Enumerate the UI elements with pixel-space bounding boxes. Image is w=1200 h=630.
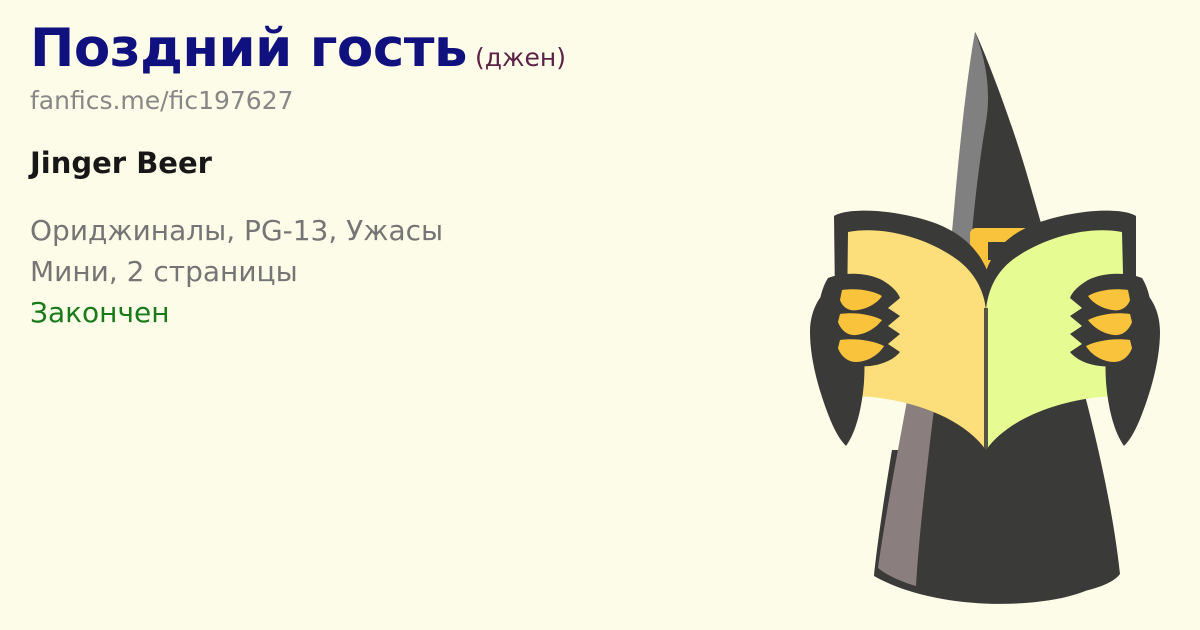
metadata-block: Ориджиналы, PG-13, Ужасы Мини, 2 страниц… bbox=[30, 211, 730, 333]
page-title: Поздний гость(джен) bbox=[30, 22, 730, 75]
title-text: Поздний гость bbox=[30, 18, 467, 79]
source-url[interactable]: fanfics.me/fic197627 bbox=[30, 87, 730, 115]
metadata-line-fandom-rating-genre: Ориджиналы, PG-13, Ужасы bbox=[30, 211, 730, 252]
witch-reading-book-illustration bbox=[770, 10, 1200, 620]
book-spine bbox=[984, 308, 988, 452]
genre-tag: (джен) bbox=[475, 43, 566, 72]
author-name: Jinger Beer bbox=[30, 148, 730, 180]
text-column: Поздний гость(джен) fanfics.me/fic197627… bbox=[30, 22, 730, 333]
metadata-line-size-pages: Мини, 2 страницы bbox=[30, 252, 730, 293]
social-card: Поздний гость(джен) fanfics.me/fic197627… bbox=[0, 0, 1200, 630]
status-badge: Закончен bbox=[30, 293, 730, 334]
